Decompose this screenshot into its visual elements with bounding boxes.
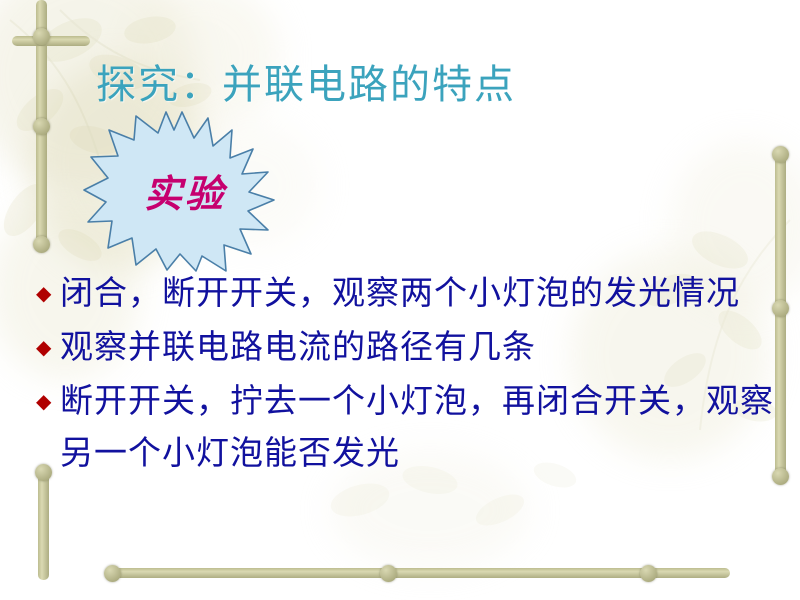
starburst-label: 实验	[82, 108, 282, 273]
bamboo-joint-node	[772, 468, 789, 485]
bamboo-joint-node	[772, 146, 789, 163]
diamond-bullet-icon: ◆	[34, 322, 60, 374]
bamboo-joint-node	[640, 565, 657, 582]
bamboo-joint-node	[772, 300, 789, 317]
bamboo-joint-node	[104, 565, 121, 582]
list-item: ◆ 闭合，断开开关，观察两个小灯泡的发光情况	[34, 268, 774, 320]
bamboo-rod-crossbar	[12, 36, 90, 46]
list-item-text: 断开开关，拧去一个小灯泡，再闭合开关，观察另一个小灯泡能否发光	[60, 376, 774, 480]
bamboo-rod-bottom	[110, 568, 730, 578]
bamboo-joint-node	[33, 236, 50, 253]
starburst-badge: 实验	[82, 108, 282, 273]
list-item-text: 观察并联电路电流的路径有几条	[60, 322, 774, 374]
bamboo-rod-bottom-left	[38, 470, 49, 580]
page-title: 探究：并联电路的特点	[96, 52, 516, 110]
diamond-bullet-icon: ◆	[34, 376, 60, 428]
list-item-text: 闭合，断开开关，观察两个小灯泡的发光情况	[60, 268, 774, 320]
diamond-bullet-icon: ◆	[34, 268, 60, 320]
slide-canvas: 探究：并联电路的特点 实验 ◆ 闭合，断开开关，观察两个小灯泡的发光情况 ◆ 观…	[0, 0, 800, 600]
list-item: ◆ 断开开关，拧去一个小灯泡，再闭合开关，观察另一个小灯泡能否发光	[34, 376, 774, 480]
bamboo-joint-node	[33, 118, 50, 135]
list-item: ◆ 观察并联电路电流的路径有几条	[34, 322, 774, 374]
bullet-list: ◆ 闭合，断开开关，观察两个小灯泡的发光情况 ◆ 观察并联电路电流的路径有几条 …	[34, 268, 774, 482]
bamboo-joint-node	[33, 28, 50, 45]
bamboo-joint-node	[380, 565, 397, 582]
